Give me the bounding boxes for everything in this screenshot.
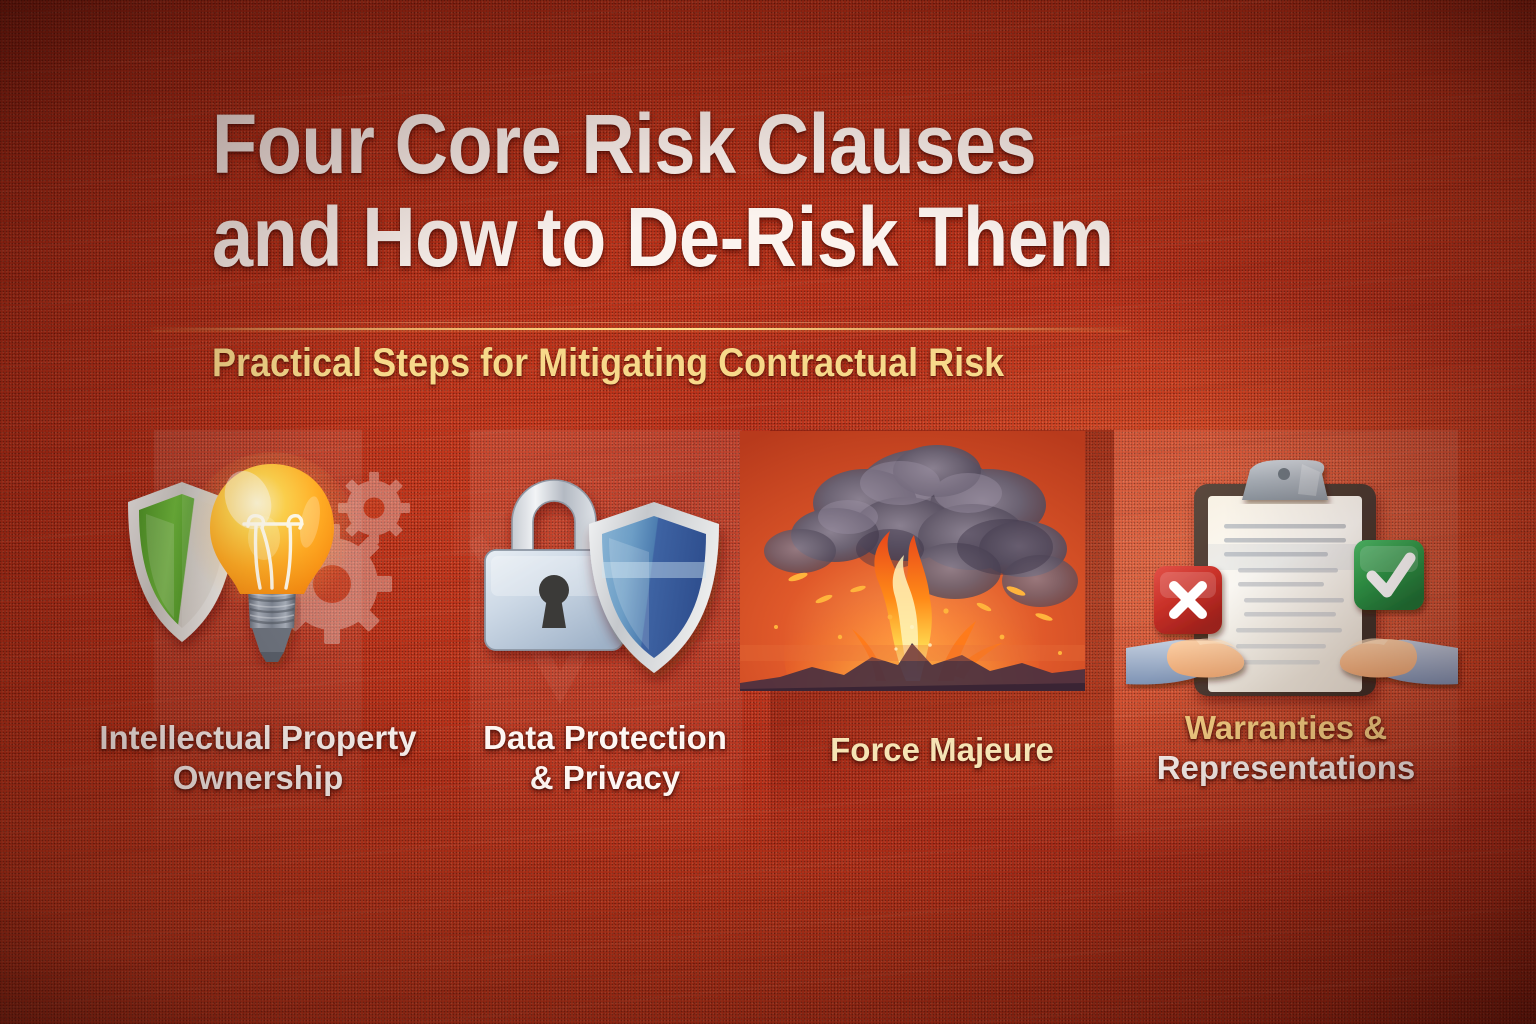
background-vignette [0, 0, 1536, 1024]
slide-canvas: Four Core Risk Clauses and How to De-Ris… [0, 0, 1536, 1024]
